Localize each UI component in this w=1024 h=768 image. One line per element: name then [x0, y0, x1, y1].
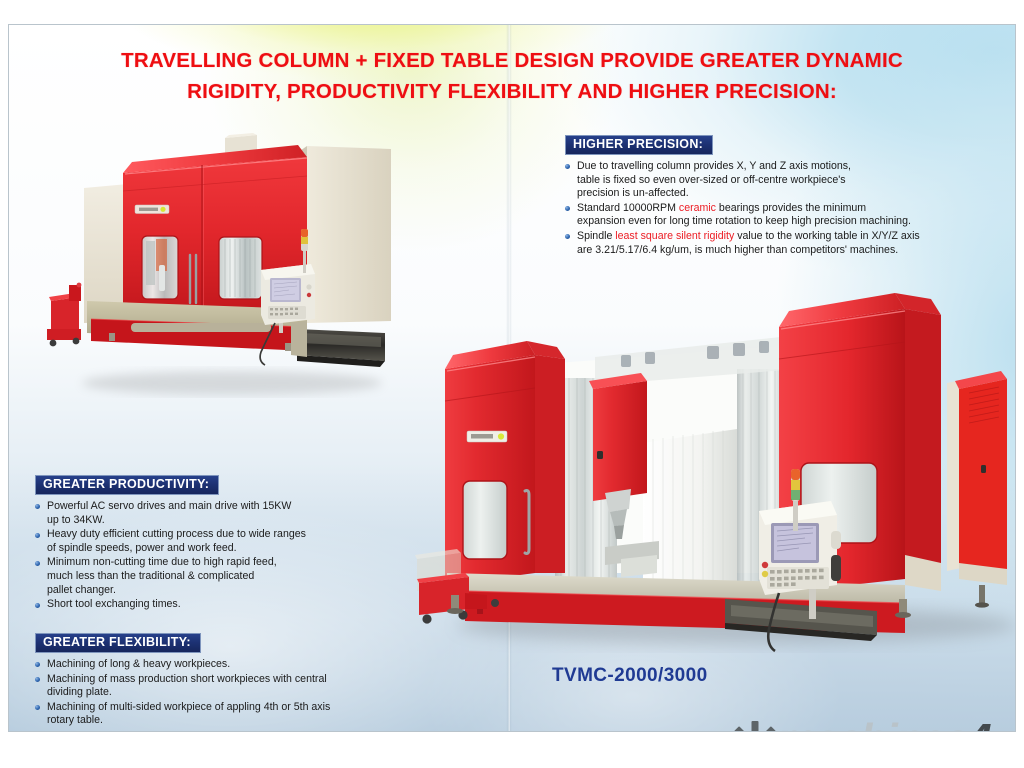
page-title: TRAVELLING COLUMN + FIXED TABLE DESIGN P… [9, 45, 1015, 107]
list-item-line: Short tool exchanging times. [47, 598, 355, 612]
highlighted-term: least square silent rigidity [615, 230, 734, 242]
higher-precision-list: Due to travelling column provides X, Y a… [565, 160, 977, 257]
text-run: pallet changer. [47, 584, 116, 596]
list-item-line: Due to travelling column provides X, Y a… [577, 160, 977, 174]
text-run: dividing plate. [47, 686, 112, 698]
list-item-line: rotary table. [47, 714, 377, 728]
text-run: much less than the traditional & complic… [47, 570, 254, 582]
highlighted-term: ceramic [679, 202, 716, 214]
text-run: rotary table. [47, 714, 103, 726]
list-item: Machining of long & heavy workpieces. [35, 658, 377, 672]
list-item-line: precision is un-affected. [577, 187, 977, 201]
list-item-line: much less than the traditional & complic… [47, 570, 355, 584]
text-run: Powerful AC servo drives and main drive … [47, 500, 291, 512]
list-item: Powerful AC servo drives and main drive … [35, 500, 355, 527]
text-run: Standard 10000RPM [577, 202, 679, 214]
brochure-sheet: TRAVELLING COLUMN + FIXED TABLE DESIGN P… [8, 24, 1016, 732]
logo-wordmark: machines4u [777, 717, 1015, 732]
greater-productivity-heading: GREATER PRODUCTIVITY: [35, 475, 219, 495]
list-item-line: Powerful AC servo drives and main drive … [47, 500, 355, 514]
list-item: Machining of multi-sided workpiece of ap… [35, 701, 377, 728]
text-run: expansion even for long time rotation to… [577, 215, 911, 227]
text-run: Due to travelling column provides X, Y a… [577, 160, 851, 172]
asterisk-star-icon [727, 719, 783, 732]
list-item: Machining of mass production short workp… [35, 673, 377, 700]
text-run: Machining of mass production short workp… [47, 673, 327, 685]
model-label: TVMC-2000/3000 [552, 665, 708, 687]
higher-precision-block: HIGHER PRECISION: Due to travelling colu… [565, 135, 977, 258]
text-run: table is fixed so even over-sized or off… [577, 174, 846, 186]
text-run: Heavy duty efficient cutting process due… [47, 528, 306, 540]
text-run: value to the working table in X/Y/Z axis [734, 230, 919, 242]
text-run: of spindle speeds, power and work feed. [47, 542, 237, 554]
list-item-line: Spindle least square silent rigidity val… [577, 230, 977, 244]
list-item: Short tool exchanging times. [35, 598, 355, 612]
list-item-line: of spindle speeds, power and work feed. [47, 542, 355, 556]
greater-flexibility-heading: GREATER FLEXIBILITY: [35, 633, 201, 653]
list-item-line: table is fixed so even over-sized or off… [577, 174, 977, 188]
greater-productivity-list: Powerful AC servo drives and main drive … [35, 500, 355, 612]
logo-word-four: 4 [967, 715, 990, 732]
list-item-line: expansion even for long time rotation to… [577, 215, 977, 229]
higher-precision-heading: HIGHER PRECISION: [565, 135, 713, 155]
text-run: Spindle [577, 230, 615, 242]
machines4u-logo[interactable]: machines4u .com.au [721, 719, 1016, 732]
text-run: precision is un-affected. [577, 187, 689, 199]
greater-flexibility-block: GREATER FLEXIBILITY: Machining of long &… [35, 633, 377, 729]
list-item-line: Heavy duty efficient cutting process due… [47, 528, 355, 542]
list-item: Spindle least square silent rigidity val… [565, 230, 977, 257]
text-run: Machining of long & heavy workpieces. [47, 658, 230, 670]
logo-word-u: u [990, 715, 1015, 732]
text-run: up to 34KW. [47, 514, 105, 526]
list-item-line: Machining of multi-sided workpiece of ap… [47, 701, 377, 715]
page-title-line1: TRAVELLING COLUMN + FIXED TABLE DESIGN P… [121, 49, 903, 72]
text-run: Minimum non-cutting time due to high rap… [47, 556, 277, 568]
text-run: Machining of multi-sided workpiece of ap… [47, 701, 330, 713]
list-item-line: Machining of mass production short workp… [47, 673, 377, 687]
text-run: bearings provides the minimum [716, 202, 866, 214]
brochure-page: TRAVELLING COLUMN + FIXED TABLE DESIGN P… [0, 0, 1024, 768]
page-title-line2: RIGIDITY, PRODUCTIVITY FLEXIBILITY AND H… [9, 76, 1015, 107]
machine-photo-main [407, 273, 1016, 653]
text-run: are 3.21/5.17/6.4 kg/um, is much higher … [577, 244, 898, 256]
list-item-line: up to 34KW. [47, 514, 355, 528]
list-item-line: Standard 10000RPM ceramic bearings provi… [577, 202, 977, 216]
list-item-line: Machining of long & heavy workpieces. [47, 658, 377, 672]
greater-flexibility-list: Machining of long & heavy workpieces.Mac… [35, 658, 377, 728]
logo-word-machines: machines [777, 715, 967, 732]
list-item: Heavy duty efficient cutting process due… [35, 528, 355, 555]
list-item: Due to travelling column provides X, Y a… [565, 160, 977, 201]
list-item-line: dividing plate. [47, 686, 377, 700]
list-item: Minimum non-cutting time due to high rap… [35, 556, 355, 597]
list-item: Standard 10000RPM ceramic bearings provi… [565, 202, 977, 229]
text-run: Short tool exchanging times. [47, 598, 181, 610]
list-item-line: are 3.21/5.17/6.4 kg/um, is much higher … [577, 244, 977, 258]
list-item-line: Minimum non-cutting time due to high rap… [47, 556, 355, 570]
list-item-line: pallet changer. [47, 584, 355, 598]
machine-photo-top [39, 133, 399, 398]
greater-productivity-block: GREATER PRODUCTIVITY: Powerful AC servo … [35, 475, 355, 613]
